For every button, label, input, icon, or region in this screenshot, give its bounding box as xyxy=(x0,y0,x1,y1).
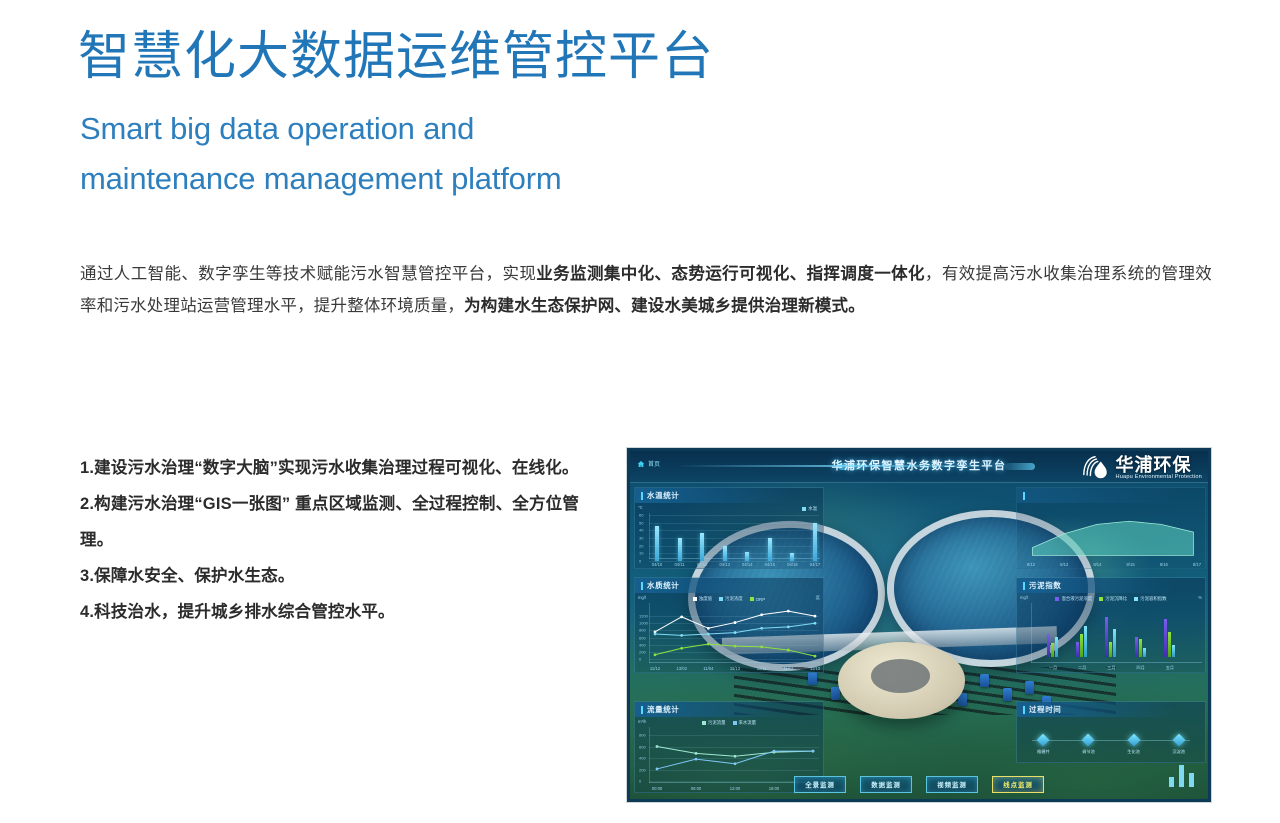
x-tick-label: 04/17 xyxy=(810,562,820,567)
legend-item[interactable]: 混合液污泥浓度 xyxy=(1055,596,1092,602)
legend-swatch xyxy=(1055,597,1059,601)
panel-elevation-mini[interactable]: 8/128/138/148/158/168/17 xyxy=(1016,487,1206,569)
page-title-en-line1: Smart big data operation and xyxy=(80,104,800,154)
x-tick-label: 04/13 xyxy=(719,562,729,567)
feature-point-1: 1.建设污水治理“数字大脑”实现污水收集治理过程可视化、在线化。 xyxy=(80,450,600,486)
bar xyxy=(700,533,704,561)
panel-water-temp-title: 水温统计 xyxy=(647,490,679,501)
page-root: 智慧化大数据运维管控平台 Smart big data operation an… xyxy=(0,0,1280,823)
legend-item[interactable]: 污泥容积指数 xyxy=(1134,596,1166,602)
feature-point-4: 4.科技治水，提升城乡排水综合管控水平。 xyxy=(80,594,600,630)
bar xyxy=(790,553,794,561)
timeline-node-label: 沉淀池 xyxy=(1172,749,1185,755)
y-tick-label: 20 xyxy=(639,543,643,548)
dashboard-button-2[interactable]: 数据监测 xyxy=(860,776,912,793)
chart-elevation-mini: 8/128/138/148/158/168/17 xyxy=(1017,503,1205,568)
x-tick-label: 二月 xyxy=(1078,665,1086,671)
legend-item[interactable]: 污泥沉降比 xyxy=(1099,596,1127,602)
chart-legend: 混合液污泥浓度污泥沉降比污泥容积指数 xyxy=(1017,596,1205,602)
y-tick-label: 10 xyxy=(639,551,643,556)
bar xyxy=(1164,619,1167,657)
panel-sludge-title: 污泥指数 xyxy=(1029,580,1061,591)
x-tick-label: 四月 xyxy=(1136,665,1144,671)
timeline-node[interactable] xyxy=(1127,734,1140,747)
legend-label: 污泥容积指数 xyxy=(1140,596,1166,602)
chart-legend: 水温 xyxy=(802,506,817,512)
x-tick-label: 11/12 xyxy=(783,666,793,671)
panel-water-quality[interactable]: 水质统计 mg/l度浊度值污泥浓度ORP02004006008001000120… xyxy=(634,577,824,673)
bar xyxy=(1143,648,1146,657)
x-tick-label: 8/17 xyxy=(1193,562,1201,567)
panel-flow-header: 流量统计 xyxy=(635,702,823,717)
panel-accent-bar xyxy=(1023,582,1025,590)
chart-sludge-index: mg/l%混合液污泥浓度污泥沉降比污泥容积指数一月二月三月四月五月 xyxy=(1017,593,1205,672)
process-timeline: 格栅井调节池生化池沉淀池 xyxy=(1017,717,1205,762)
dashboard-button-4[interactable]: 线点监测 xyxy=(992,776,1044,793)
panel-accent-bar xyxy=(1023,706,1025,714)
bar xyxy=(1055,637,1058,657)
bar xyxy=(1135,637,1138,657)
panel-accent-bar xyxy=(641,492,643,500)
logo-text: 华浦环保 Huapu Environmental Protection xyxy=(1115,456,1202,480)
y-tick-label: 40 xyxy=(639,528,643,533)
intro-segment-1: 业务监测集中化、态势运行可视化、指挥调度一体化 xyxy=(536,265,925,283)
gridline xyxy=(649,546,819,547)
x-tick-label: 三月 xyxy=(1107,665,1115,671)
plant-valve xyxy=(980,674,989,687)
legend-item[interactable]: 水温 xyxy=(802,506,817,512)
y-axis-unit: ℃ xyxy=(638,505,643,510)
legend-swatch xyxy=(802,507,806,511)
bar xyxy=(1047,634,1050,657)
intro-paragraph: 通过人工智能、数字孪生等技术赋能污水智慧管控平台，实现业务监测集中化、态势运行可… xyxy=(80,258,1212,322)
bar xyxy=(1113,629,1116,657)
y-tick-label: 0 xyxy=(639,559,641,564)
page-title-en-line2: maintenance management platform xyxy=(80,154,800,204)
dashboard-button-bar: 全景监测数据监测视频监测线点监测 xyxy=(630,776,1208,793)
x-tick-label: 五月 xyxy=(1166,665,1174,671)
chart-water-temp: ℃水温010203040506004/1004/1104/1204/1304/1… xyxy=(635,503,823,568)
water-drop-wave-logo-icon xyxy=(1081,453,1111,483)
gridline xyxy=(649,515,819,516)
x-tick-label: 04/16 xyxy=(787,562,797,567)
bar xyxy=(1080,634,1083,657)
plant-valve xyxy=(808,672,817,685)
logo-name-cn: 华浦环保 xyxy=(1115,456,1202,474)
x-tick-label: 04/10 xyxy=(652,562,662,567)
panel-process-time[interactable]: 过程时间 格栅井调节池生化池沉淀池 xyxy=(1016,701,1206,763)
bar xyxy=(768,538,772,561)
logo-name-en: Huapu Environmental Protection xyxy=(1115,474,1202,480)
bar xyxy=(678,538,682,561)
x-tick-label: 04/11 xyxy=(674,562,684,567)
feature-point-2: 2.构建污水治理“GIS一张图” 重点区域监测、全过程控制、全方位管理。 xyxy=(80,486,600,558)
page-title-cn: 智慧化大数据运维管控平台 xyxy=(78,26,714,88)
feature-point-3: 3.保障水安全、保护水生态。 xyxy=(80,558,600,594)
dashboard-screenshot: 首页 华浦环保智慧水务数字孪生平台 华浦环保 Huapu En xyxy=(626,447,1212,803)
panel-water-temp-header: 水温统计 xyxy=(635,488,823,503)
x-tick-label: 11/11 xyxy=(757,666,767,671)
chart-series-line xyxy=(635,593,823,672)
feature-points-list: 1.建设污水治理“数字大脑”实现污水收集治理过程可视化、在线化。2.构建污水治理… xyxy=(80,450,600,630)
bar xyxy=(723,546,727,561)
y-tick-label: 60 xyxy=(639,513,643,518)
chart-water-quality: mg/l度浊度值污泥浓度ORP02004006008001000120011/1… xyxy=(635,593,823,672)
gridline xyxy=(649,530,819,531)
hud-pill-right xyxy=(1005,463,1035,470)
x-tick-label: 8/15 xyxy=(1127,562,1135,567)
panel-accent-bar xyxy=(641,582,643,590)
timeline-node-label: 生化池 xyxy=(1127,749,1140,755)
panel-process-time-header: 过程时间 xyxy=(1017,702,1205,717)
gridline xyxy=(649,523,819,524)
panel-accent-bar xyxy=(1023,492,1025,500)
y-axis xyxy=(649,513,650,559)
legend-label: 污泥沉降比 xyxy=(1105,596,1127,602)
timeline-axis xyxy=(1032,740,1190,741)
panel-sludge-index[interactable]: 污泥指数 mg/l%混合液污泥浓度污泥沉降比污泥容积指数一月二月三月四月五月 xyxy=(1016,577,1206,673)
plant-valve xyxy=(1003,688,1012,701)
page-title-en: Smart big data operation and maintenance… xyxy=(80,104,800,204)
x-tick-label: 8/14 xyxy=(1093,562,1101,567)
plant-valve xyxy=(1025,681,1034,694)
bar xyxy=(745,552,749,561)
x-tick-label: 一月 xyxy=(1049,665,1057,671)
panel-water-temp[interactable]: 水温统计 ℃水温010203040506004/1004/1104/1204/1… xyxy=(634,487,824,569)
panel-accent-bar xyxy=(641,706,643,714)
bar xyxy=(813,523,817,561)
brand-logo: 华浦环保 Huapu Environmental Protection xyxy=(1081,453,1202,483)
bar xyxy=(1076,642,1079,657)
timeline-node[interactable] xyxy=(1172,734,1185,747)
bar xyxy=(1139,639,1142,657)
bar xyxy=(655,526,659,561)
y-tick-label: 30 xyxy=(639,536,643,541)
x-tick-label: 11/13 xyxy=(810,666,820,671)
bar xyxy=(1105,617,1108,657)
x-tick-label: 8/16 xyxy=(1160,562,1168,567)
legend-swatch xyxy=(1134,597,1138,601)
panel-sludge-header: 污泥指数 xyxy=(1017,578,1205,593)
legend-label: 混合液污泥浓度 xyxy=(1061,596,1092,602)
x-tick-label: 8/12 xyxy=(1027,562,1035,567)
x-tick-label: 11/13 xyxy=(730,666,740,671)
panel-water-quality-header: 水质统计 xyxy=(635,578,823,593)
timeline-node[interactable] xyxy=(1037,734,1050,747)
y-tick-label: 50 xyxy=(639,520,643,525)
legend-label: 水温 xyxy=(808,506,817,512)
dashboard-canvas: 首页 华浦环保智慧水务数字孪生平台 华浦环保 Huapu En xyxy=(630,451,1208,799)
plant-center-hub xyxy=(838,642,965,719)
panel-process-time-title: 过程时间 xyxy=(1029,704,1061,715)
y-axis xyxy=(1031,603,1032,663)
x-tick-label: 13/02 xyxy=(676,666,686,671)
bar xyxy=(1172,645,1175,657)
intro-segment-3: 为构建水生态保护网、建设水美城乡提供治理新模式。 xyxy=(464,297,865,315)
panel-flow-title: 流量统计 xyxy=(647,704,679,715)
x-tick-label: 11/04 xyxy=(703,666,713,671)
bar xyxy=(1109,642,1112,657)
bar xyxy=(1051,643,1054,657)
x-axis xyxy=(1031,662,1202,663)
x-tick-label: 8/13 xyxy=(1060,562,1068,567)
panel-water-quality-title: 水质统计 xyxy=(647,580,679,591)
bar xyxy=(1084,626,1087,657)
x-tick-label: 04/12 xyxy=(697,562,707,567)
plant-valve xyxy=(831,687,840,700)
panel-elevation-header xyxy=(1017,488,1205,503)
dashboard-button-3[interactable]: 视频监测 xyxy=(926,776,978,793)
timeline-node-label: 调节池 xyxy=(1082,749,1095,755)
x-tick-label: 04/14 xyxy=(742,562,752,567)
timeline-node[interactable] xyxy=(1082,734,1095,747)
intro-segment-0: 通过人工智能、数字孪生等技术赋能污水智慧管控平台，实现 xyxy=(80,265,536,283)
x-tick-label: 04/15 xyxy=(765,562,775,567)
timeline-node-label: 格栅井 xyxy=(1037,749,1050,755)
bar xyxy=(1168,632,1171,657)
gridline xyxy=(649,538,819,539)
dashboard-button-1[interactable]: 全景监测 xyxy=(794,776,846,793)
area-series xyxy=(1017,503,1205,568)
legend-swatch xyxy=(1099,597,1103,601)
x-tick-label: 11/12 xyxy=(650,666,660,671)
